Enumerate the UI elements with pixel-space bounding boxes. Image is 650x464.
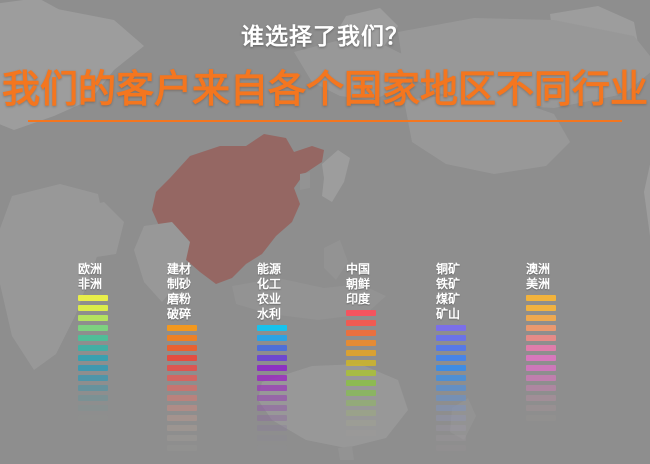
gradient-bar (436, 345, 466, 351)
gradient-bar (436, 445, 466, 451)
gradient-bar (526, 315, 556, 321)
gradient-bar (167, 415, 197, 421)
gradient-bar (526, 305, 556, 311)
gradient-bar (346, 420, 376, 426)
gradient-bar (257, 385, 287, 391)
gradient-bar (257, 375, 287, 381)
gradient-bar (167, 405, 197, 411)
title-divider-rule (28, 120, 622, 122)
gradient-bar (436, 375, 466, 381)
gradient-bar (436, 355, 466, 361)
column-label: 澳洲 (526, 262, 646, 277)
gradient-bar (436, 385, 466, 391)
gradient-bar (78, 315, 108, 321)
column-regions-3: 澳洲美洲 (526, 262, 646, 425)
gradient-bar (167, 395, 197, 401)
gradient-bar (78, 345, 108, 351)
gradient-bar (346, 380, 376, 386)
gradient-bar (346, 360, 376, 366)
gradient-bar (526, 405, 556, 411)
gradient-bar (436, 405, 466, 411)
gradient-bar (257, 355, 287, 361)
gradient-bar (526, 365, 556, 371)
gradient-bar (346, 310, 376, 316)
gradient-bar (257, 405, 287, 411)
gradient-bar (167, 355, 197, 361)
gradient-bar (346, 350, 376, 356)
gradient-bar (167, 445, 197, 451)
gradient-bar (346, 400, 376, 406)
gradient-bar (346, 370, 376, 376)
gradient-bar (78, 405, 108, 411)
gradient-bar (526, 295, 556, 301)
gradient-bar (257, 435, 287, 441)
gradient-bar (526, 395, 556, 401)
kicker-heading: 谁选择了我们？ (0, 17, 650, 51)
column-label: 美洲 (526, 277, 646, 292)
gradient-bar (436, 365, 466, 371)
gradient-bar (526, 415, 556, 421)
gradient-bar (78, 335, 108, 341)
gradient-bar (78, 325, 108, 331)
gradient-bar (436, 325, 466, 331)
gradient-bar (257, 365, 287, 371)
gradient-bar (257, 335, 287, 341)
gradient-bar (257, 395, 287, 401)
gradient-bar (167, 425, 197, 431)
gradient-bar (167, 335, 197, 341)
gradient-bar (78, 385, 108, 391)
gradient-bar (436, 425, 466, 431)
gradient-bar (257, 425, 287, 431)
gradient-bar (257, 445, 287, 451)
gradient-bar (167, 385, 197, 391)
gradient-bar (167, 435, 197, 441)
category-columns: 欧洲非洲建材制砂磨粉破碎能源化工农业水利中国朝鲜印度铜矿铁矿煤矿矿山澳洲美洲 (0, 262, 650, 462)
gradient-bar (78, 415, 108, 421)
gradient-bar (167, 325, 197, 331)
page-title: 我们的客户来自各个国家地区不同行业 (0, 58, 650, 113)
gradient-bar (346, 330, 376, 336)
gradient-bar (436, 415, 466, 421)
gradient-bar (346, 390, 376, 396)
gradient-bar (526, 385, 556, 391)
gradient-bar (257, 345, 287, 351)
gradient-bar (526, 325, 556, 331)
gradient-bar (346, 340, 376, 346)
gradient-bar (526, 355, 556, 361)
gradient-bar (78, 295, 108, 301)
gradient-bar (78, 365, 108, 371)
gradient-bar (436, 435, 466, 441)
gradient-bar (526, 375, 556, 381)
gradient-bar (346, 430, 376, 436)
gradient-bar-stack (526, 295, 646, 421)
gradient-bar (78, 355, 108, 361)
gradient-bar (346, 410, 376, 416)
gradient-bar (257, 325, 287, 331)
gradient-bar (436, 395, 466, 401)
gradient-bar (257, 415, 287, 421)
slide-canvas: 谁选择了我们？ 我们的客户来自各个国家地区不同行业 欧洲非洲建材制砂磨粉破碎能源… (0, 0, 650, 464)
gradient-bar (167, 375, 197, 381)
gradient-bar (526, 345, 556, 351)
gradient-bar (78, 395, 108, 401)
gradient-bar (526, 335, 556, 341)
gradient-bar (436, 335, 466, 341)
gradient-bar (167, 345, 197, 351)
gradient-bar (78, 305, 108, 311)
gradient-bar (167, 365, 197, 371)
gradient-bar (346, 320, 376, 326)
gradient-bar (78, 375, 108, 381)
